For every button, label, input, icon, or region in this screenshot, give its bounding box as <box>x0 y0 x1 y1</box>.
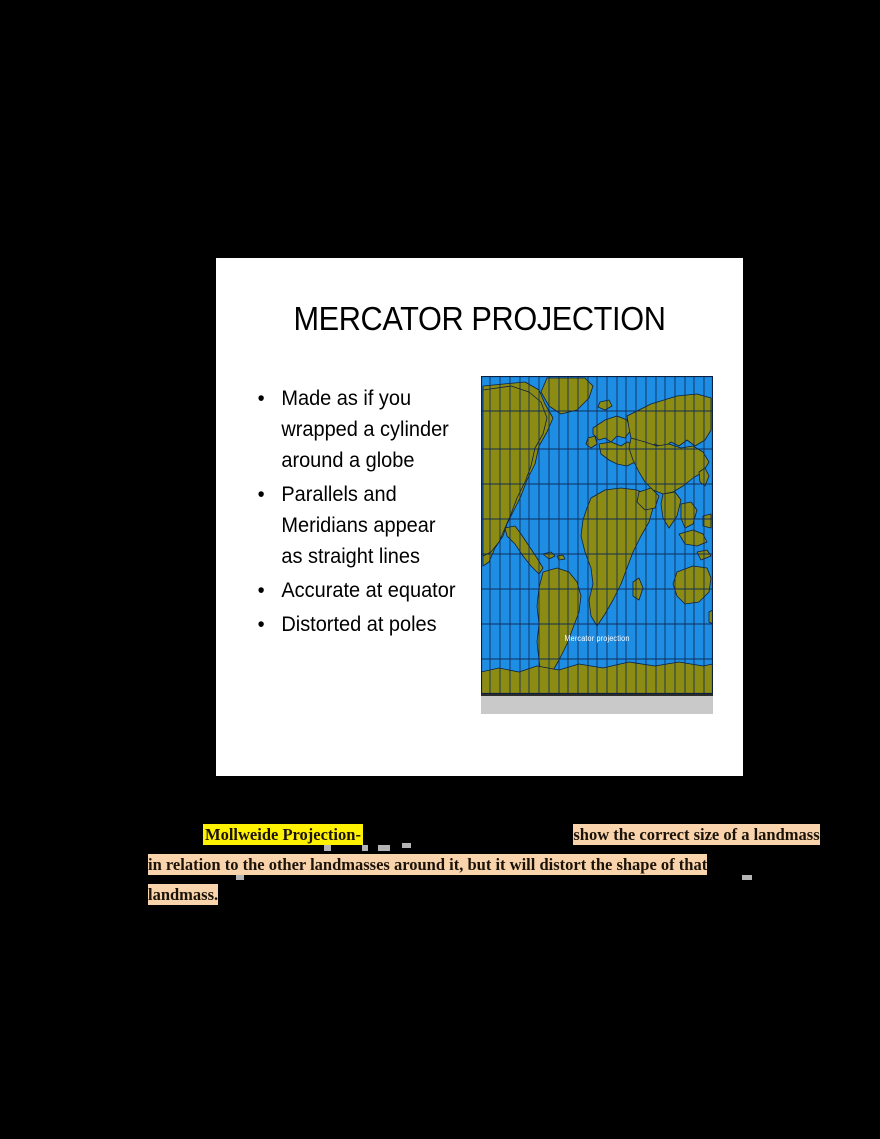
scan-artifact <box>236 875 244 880</box>
list-item: • Parallels and Meridians appear as stra… <box>250 479 461 572</box>
bullet-dot-icon: • <box>258 479 265 510</box>
map-footer-bar <box>481 694 713 714</box>
list-item-label: Accurate at equator <box>281 579 455 602</box>
list-item-label: Parallels and Meridians appear as straig… <box>281 483 435 568</box>
list-item: • Made as if you wrapped a cylinder arou… <box>250 383 461 476</box>
bullet-list: • Made as if you wrapped a cylinder arou… <box>250 383 472 643</box>
scan-artifact <box>362 845 368 851</box>
mollweide-projection-label: Mollweide Projection- <box>203 824 363 845</box>
scan-artifact <box>742 875 752 880</box>
world-map-image <box>481 376 713 694</box>
list-item: • Accurate at equator <box>250 575 461 606</box>
scan-artifact <box>378 845 390 851</box>
page-title: MERCATOR PROJECTION <box>234 300 724 338</box>
list-item: • Distorted at poles <box>250 609 461 640</box>
scan-artifact <box>402 843 411 848</box>
redacted-text-block: ██████████████████ <box>363 821 573 851</box>
bullet-dot-icon: • <box>258 383 265 414</box>
list-item-label: Distorted at poles <box>281 613 436 636</box>
bullet-dot-icon: • <box>258 575 265 606</box>
presentation-slide: MERCATOR PROJECTION • Made as if you wra… <box>216 258 743 776</box>
scan-artifact <box>324 845 331 851</box>
bullet-dot-icon: • <box>258 609 265 640</box>
paragraph-line-1: Mollweide Projection-██████████████████s… <box>148 820 778 850</box>
paragraph-line-3: landmass. <box>148 880 778 910</box>
paragraph-line-3-text: landmass. <box>148 884 218 905</box>
document-paragraph: Mollweide Projection-██████████████████s… <box>148 820 778 910</box>
list-item-label: Made as if you wrapped a cylinder around… <box>281 387 448 472</box>
paragraph-line-2-text: in relation to the other landmasses arou… <box>148 854 707 875</box>
mercator-map-figure: Mercator projection <box>481 376 713 714</box>
paragraph-line-1-tail: show the correct size of a landmass <box>573 824 819 845</box>
